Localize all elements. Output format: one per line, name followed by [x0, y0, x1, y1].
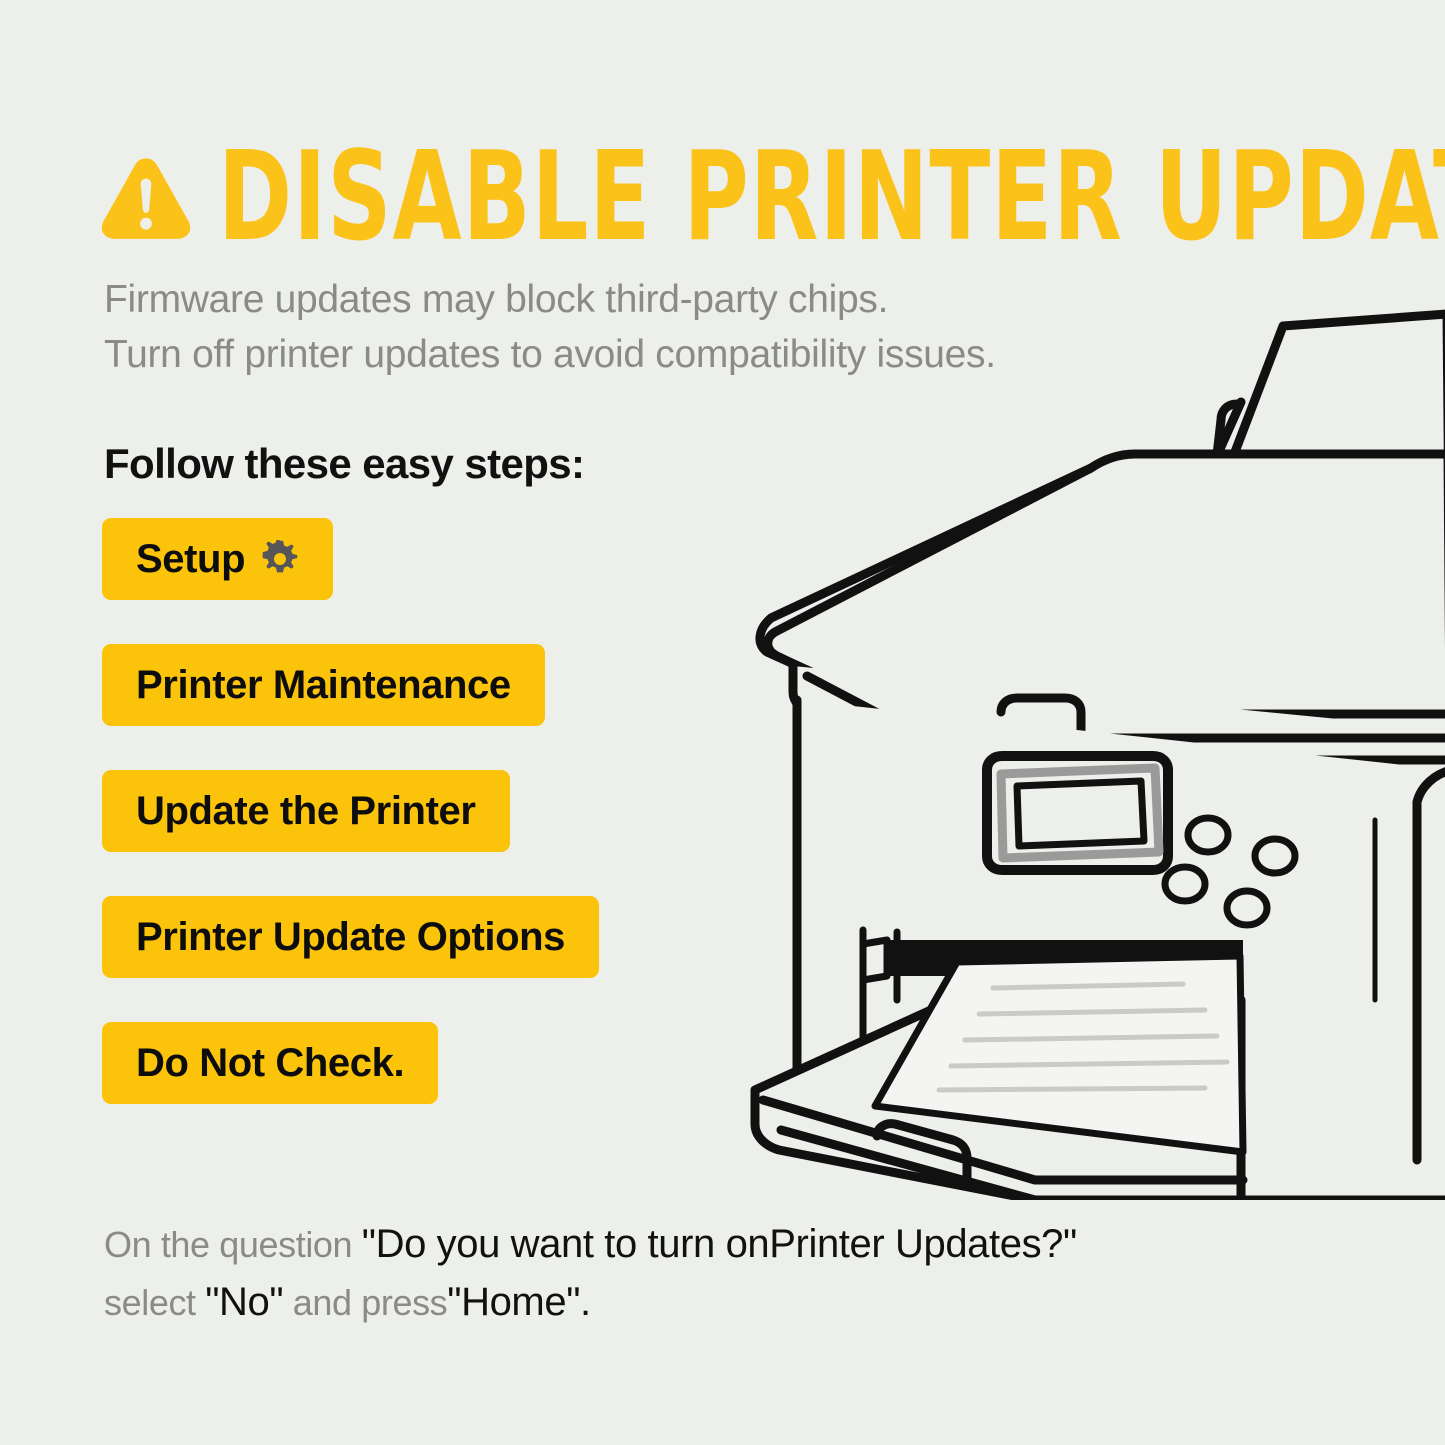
- footer-line1-prefix: On the question: [104, 1224, 362, 1265]
- step-pill-printer-update-options[interactable]: Printer Update Options: [102, 896, 599, 978]
- printer-illustration: [735, 300, 1445, 1200]
- poster-canvas: DISABLE PRINTER UPDATES Firmware updates…: [0, 0, 1445, 1445]
- step-pill-update-the-printer[interactable]: Update the Printer: [102, 770, 510, 852]
- footer-line2-mid: and press: [283, 1282, 447, 1323]
- step-pill-label: Update the Printer: [136, 791, 476, 831]
- footer-line2-quote-no: "No": [205, 1280, 283, 1324]
- steps-heading: Follow these easy steps:: [104, 440, 584, 488]
- step-pill-printer-maintenance[interactable]: Printer Maintenance: [102, 644, 545, 726]
- step-pill-label: Printer Maintenance: [136, 665, 511, 705]
- footer-line2-quote-home: "Home".: [447, 1280, 590, 1324]
- step-pill-do-not-check[interactable]: Do Not Check.: [102, 1022, 438, 1104]
- warning-triangle-icon: [100, 154, 192, 240]
- footer-line-2: select "No" and press"Home".: [104, 1273, 1304, 1331]
- footer-line2-prefix: select: [104, 1282, 205, 1323]
- step-pill-label: Setup: [136, 539, 245, 579]
- printer-line-art-svg: [735, 300, 1445, 1200]
- footer-line1-quote: "Do you want to turn onPrinter Updates?": [362, 1222, 1077, 1266]
- gear-icon: [261, 540, 299, 578]
- footer-instruction: On the question "Do you want to turn onP…: [104, 1215, 1304, 1332]
- step-pill-label: Do Not Check.: [136, 1043, 404, 1083]
- footer-line-1: On the question "Do you want to turn onP…: [104, 1215, 1304, 1273]
- page-title: DISABLE PRINTER UPDATES: [218, 136, 1445, 259]
- step-pill-label: Printer Update Options: [136, 917, 565, 957]
- lcd-display-screen: [1017, 781, 1144, 846]
- step-pill-setup[interactable]: Setup: [102, 518, 333, 600]
- page-title-row: DISABLE PRINTER UPDATES: [100, 142, 1420, 252]
